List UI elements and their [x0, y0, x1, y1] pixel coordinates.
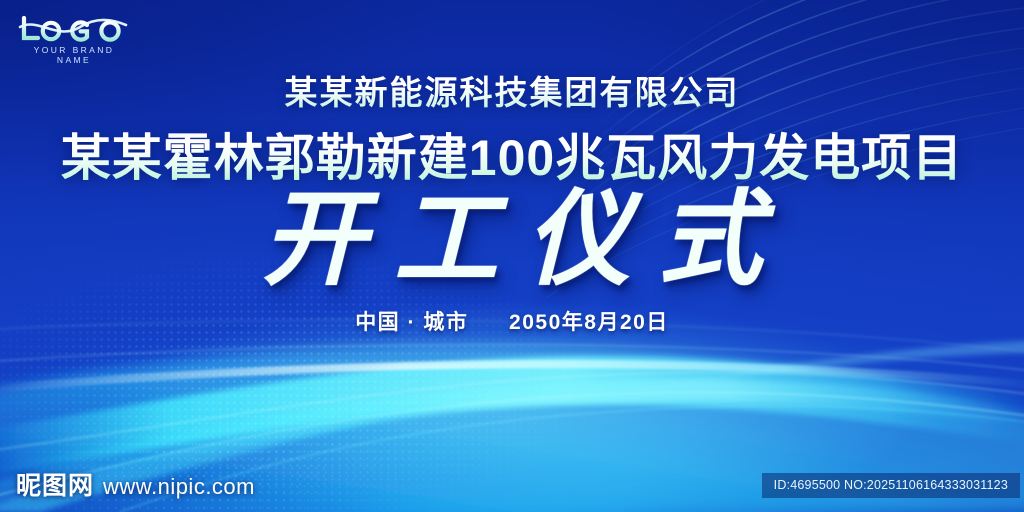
logo-tagline: YOUR BRAND NAME: [18, 45, 130, 65]
ceremony-calligraphy: 开工仪式: [0, 186, 1024, 295]
brand-logo[interactable]: YOUR BRAND NAME: [18, 14, 208, 65]
location-date-line: 中国 · 城市 2050年8月20日: [0, 306, 1024, 336]
company-name: 某某新能源科技集团有限公司: [0, 66, 1024, 114]
watermark-cn-text: 昵图网: [16, 466, 94, 502]
project-title: 某某霍林郭勒新建100兆瓦风力发电项目: [0, 118, 1024, 190]
location-text: 中国 · 城市: [355, 311, 468, 334]
site-watermark: 昵图网 www.nipic.com: [16, 466, 255, 502]
logo-wordmark-icon: [18, 14, 130, 44]
asset-id-badge: ID:4695500 NO:20251106164333031123: [762, 473, 1020, 498]
poster-canvas: YOUR BRAND NAME 某某新能源科技集团有限公司 某某霍林郭勒新建10…: [0, 0, 1024, 512]
date-text: 2050年8月20日: [509, 311, 669, 334]
watermark-url-text: www.nipic.com: [103, 474, 255, 500]
